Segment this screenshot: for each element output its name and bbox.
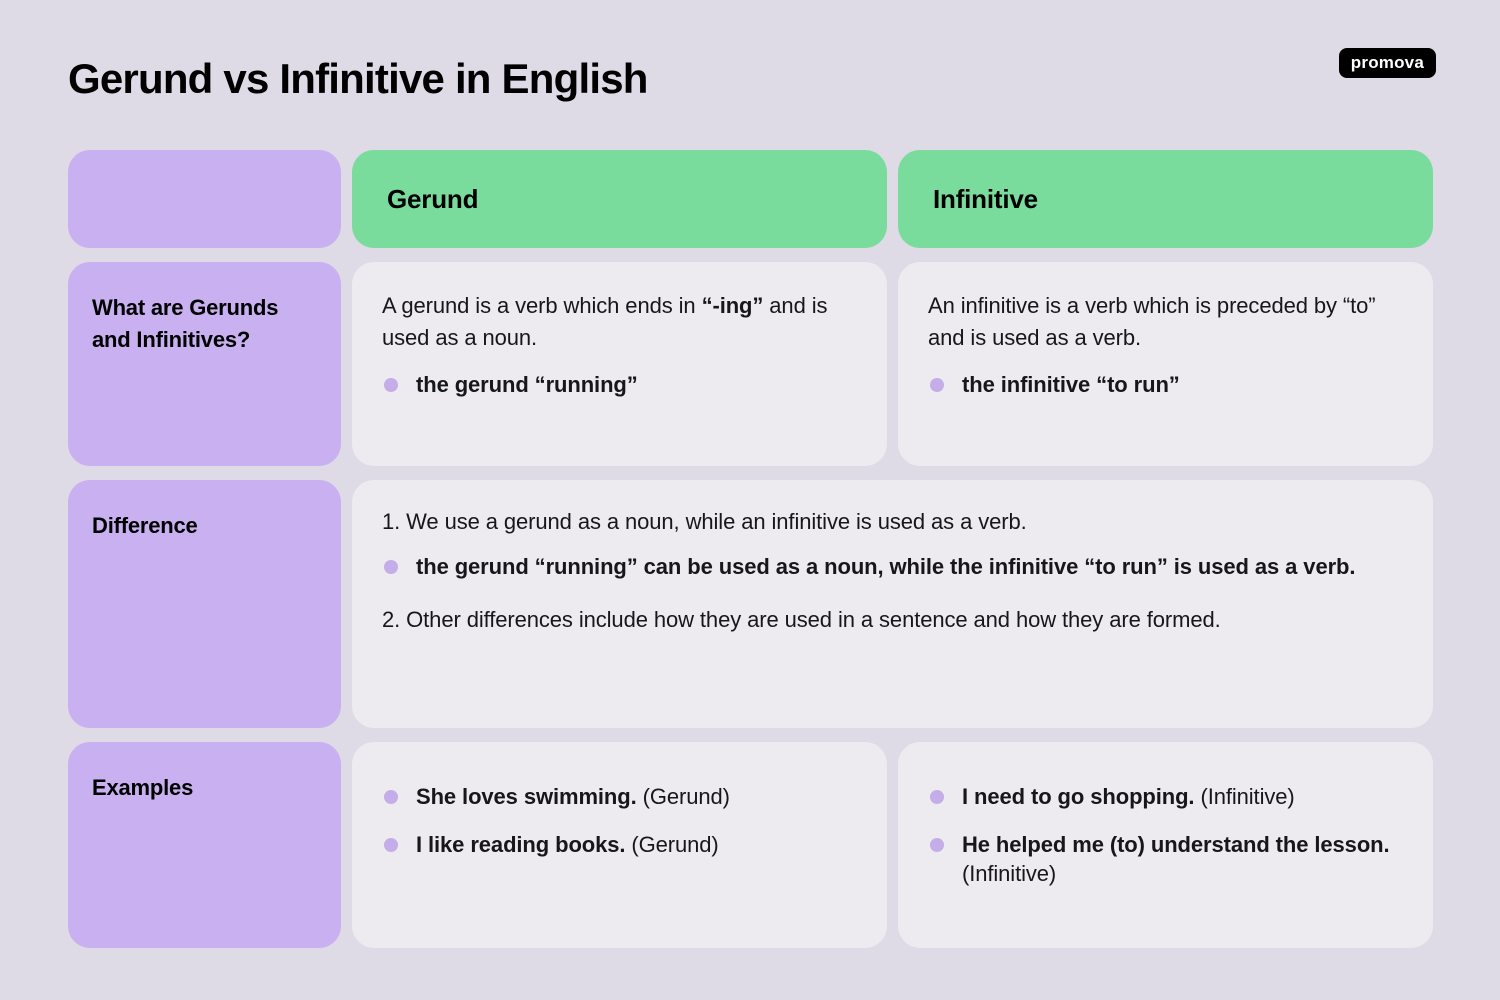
bullet-dot-icon — [384, 838, 398, 852]
bullet-strong-text: He helped me (to) understand the lesson. — [962, 832, 1390, 857]
cell-gerund-examples: She loves swimming. (Gerund) I like read… — [352, 742, 887, 948]
infinitive-example-bullets: I need to go shopping. (Infinitive) He h… — [928, 782, 1403, 889]
bullet-strong-text: the gerund “running” — [416, 372, 638, 397]
list-item: I need to go shopping. (Infinitive) — [928, 782, 1403, 812]
list-item: the infinitive “to run” — [928, 370, 1403, 400]
bullet-plain-text: (Infinitive) — [962, 861, 1056, 886]
infographic-page: Gerund vs Infinitive in English promova … — [0, 0, 1500, 1000]
page-title: Gerund vs Infinitive in English — [68, 56, 648, 102]
promova-logo: promova — [1339, 48, 1436, 78]
table-row: Difference 1. We use a gerund as a noun,… — [68, 480, 1432, 728]
bullet-strong-text: I need to go shopping. — [962, 784, 1194, 809]
infinitive-definition-bullets: the infinitive “to run” — [928, 370, 1403, 400]
list-item: She loves swimming. (Gerund) — [382, 782, 857, 812]
bullet-dot-icon — [384, 790, 398, 804]
cell-gerund-definition: A gerund is a verb which ends in “-ing” … — [352, 262, 887, 466]
bullet-strong-text: the infinitive “to run” — [962, 372, 1180, 397]
row-label-examples: Examples — [68, 742, 341, 948]
table-row: What are Gerunds and Infinitives? A geru… — [68, 262, 1432, 466]
bullet-dot-icon — [384, 378, 398, 392]
header-cell-infinitive: Infinitive — [898, 150, 1433, 248]
row-label-definition: What are Gerunds and Infinitives? — [68, 262, 341, 466]
header-cell-empty — [68, 150, 341, 248]
bullet-dot-icon — [930, 790, 944, 804]
difference-paragraph-2: 2. Other differences include how they ar… — [382, 604, 1403, 636]
list-item: I like reading books. (Gerund) — [382, 830, 857, 860]
list-item: He helped me (to) understand the lesson.… — [928, 830, 1403, 889]
bullet-dot-icon — [384, 560, 398, 574]
gerund-definition-lead: A gerund is a verb which ends in — [382, 293, 702, 318]
bullet-plain-text: (Infinitive) — [1194, 784, 1294, 809]
infinitive-definition-paragraph: An infinitive is a verb which is precede… — [928, 290, 1403, 354]
bullet-strong-text: She loves swimming. — [416, 784, 637, 809]
table-header-row: Gerund Infinitive — [68, 150, 1432, 248]
cell-infinitive-examples: I need to go shopping. (Infinitive) He h… — [898, 742, 1433, 948]
header-cell-gerund: Gerund — [352, 150, 887, 248]
comparison-table: Gerund Infinitive What are Gerunds and I… — [68, 150, 1432, 948]
row-label-text: What are Gerunds and Infinitives? — [92, 292, 319, 356]
difference-paragraph-1: 1. We use a gerund as a noun, while an i… — [382, 506, 1403, 538]
cell-difference-content: 1. We use a gerund as a noun, while an i… — [352, 480, 1433, 728]
gerund-example-bullets: She loves swimming. (Gerund) I like read… — [382, 782, 857, 859]
list-item: the gerund “running” can be used as a no… — [382, 552, 1403, 582]
bullet-plain-text: (Gerund) — [625, 832, 718, 857]
bullet-strong-text: the gerund “running” can be used as a no… — [416, 554, 1355, 579]
bullet-dot-icon — [930, 378, 944, 392]
infinitive-definition-lead: An infinitive is a verb which is precede… — [928, 293, 1376, 350]
row-label-text: Examples — [92, 772, 319, 804]
header-label-infinitive: Infinitive — [933, 184, 1038, 215]
gerund-definition-bullets: the gerund “running” — [382, 370, 857, 400]
header-label-gerund: Gerund — [387, 184, 478, 215]
difference-bullets: the gerund “running” can be used as a no… — [382, 552, 1403, 582]
cell-infinitive-definition: An infinitive is a verb which is precede… — [898, 262, 1433, 466]
gerund-definition-paragraph: A gerund is a verb which ends in “-ing” … — [382, 290, 857, 354]
gerund-definition-bold: “-ing” — [702, 293, 764, 318]
bullet-strong-text: I like reading books. — [416, 832, 625, 857]
bullet-dot-icon — [930, 838, 944, 852]
list-item: the gerund “running” — [382, 370, 857, 400]
bullet-plain-text: (Gerund) — [637, 784, 730, 809]
row-label-difference: Difference — [68, 480, 341, 728]
table-row: Examples She loves swimming. (Gerund) I … — [68, 742, 1432, 948]
row-label-text: Difference — [92, 510, 319, 542]
